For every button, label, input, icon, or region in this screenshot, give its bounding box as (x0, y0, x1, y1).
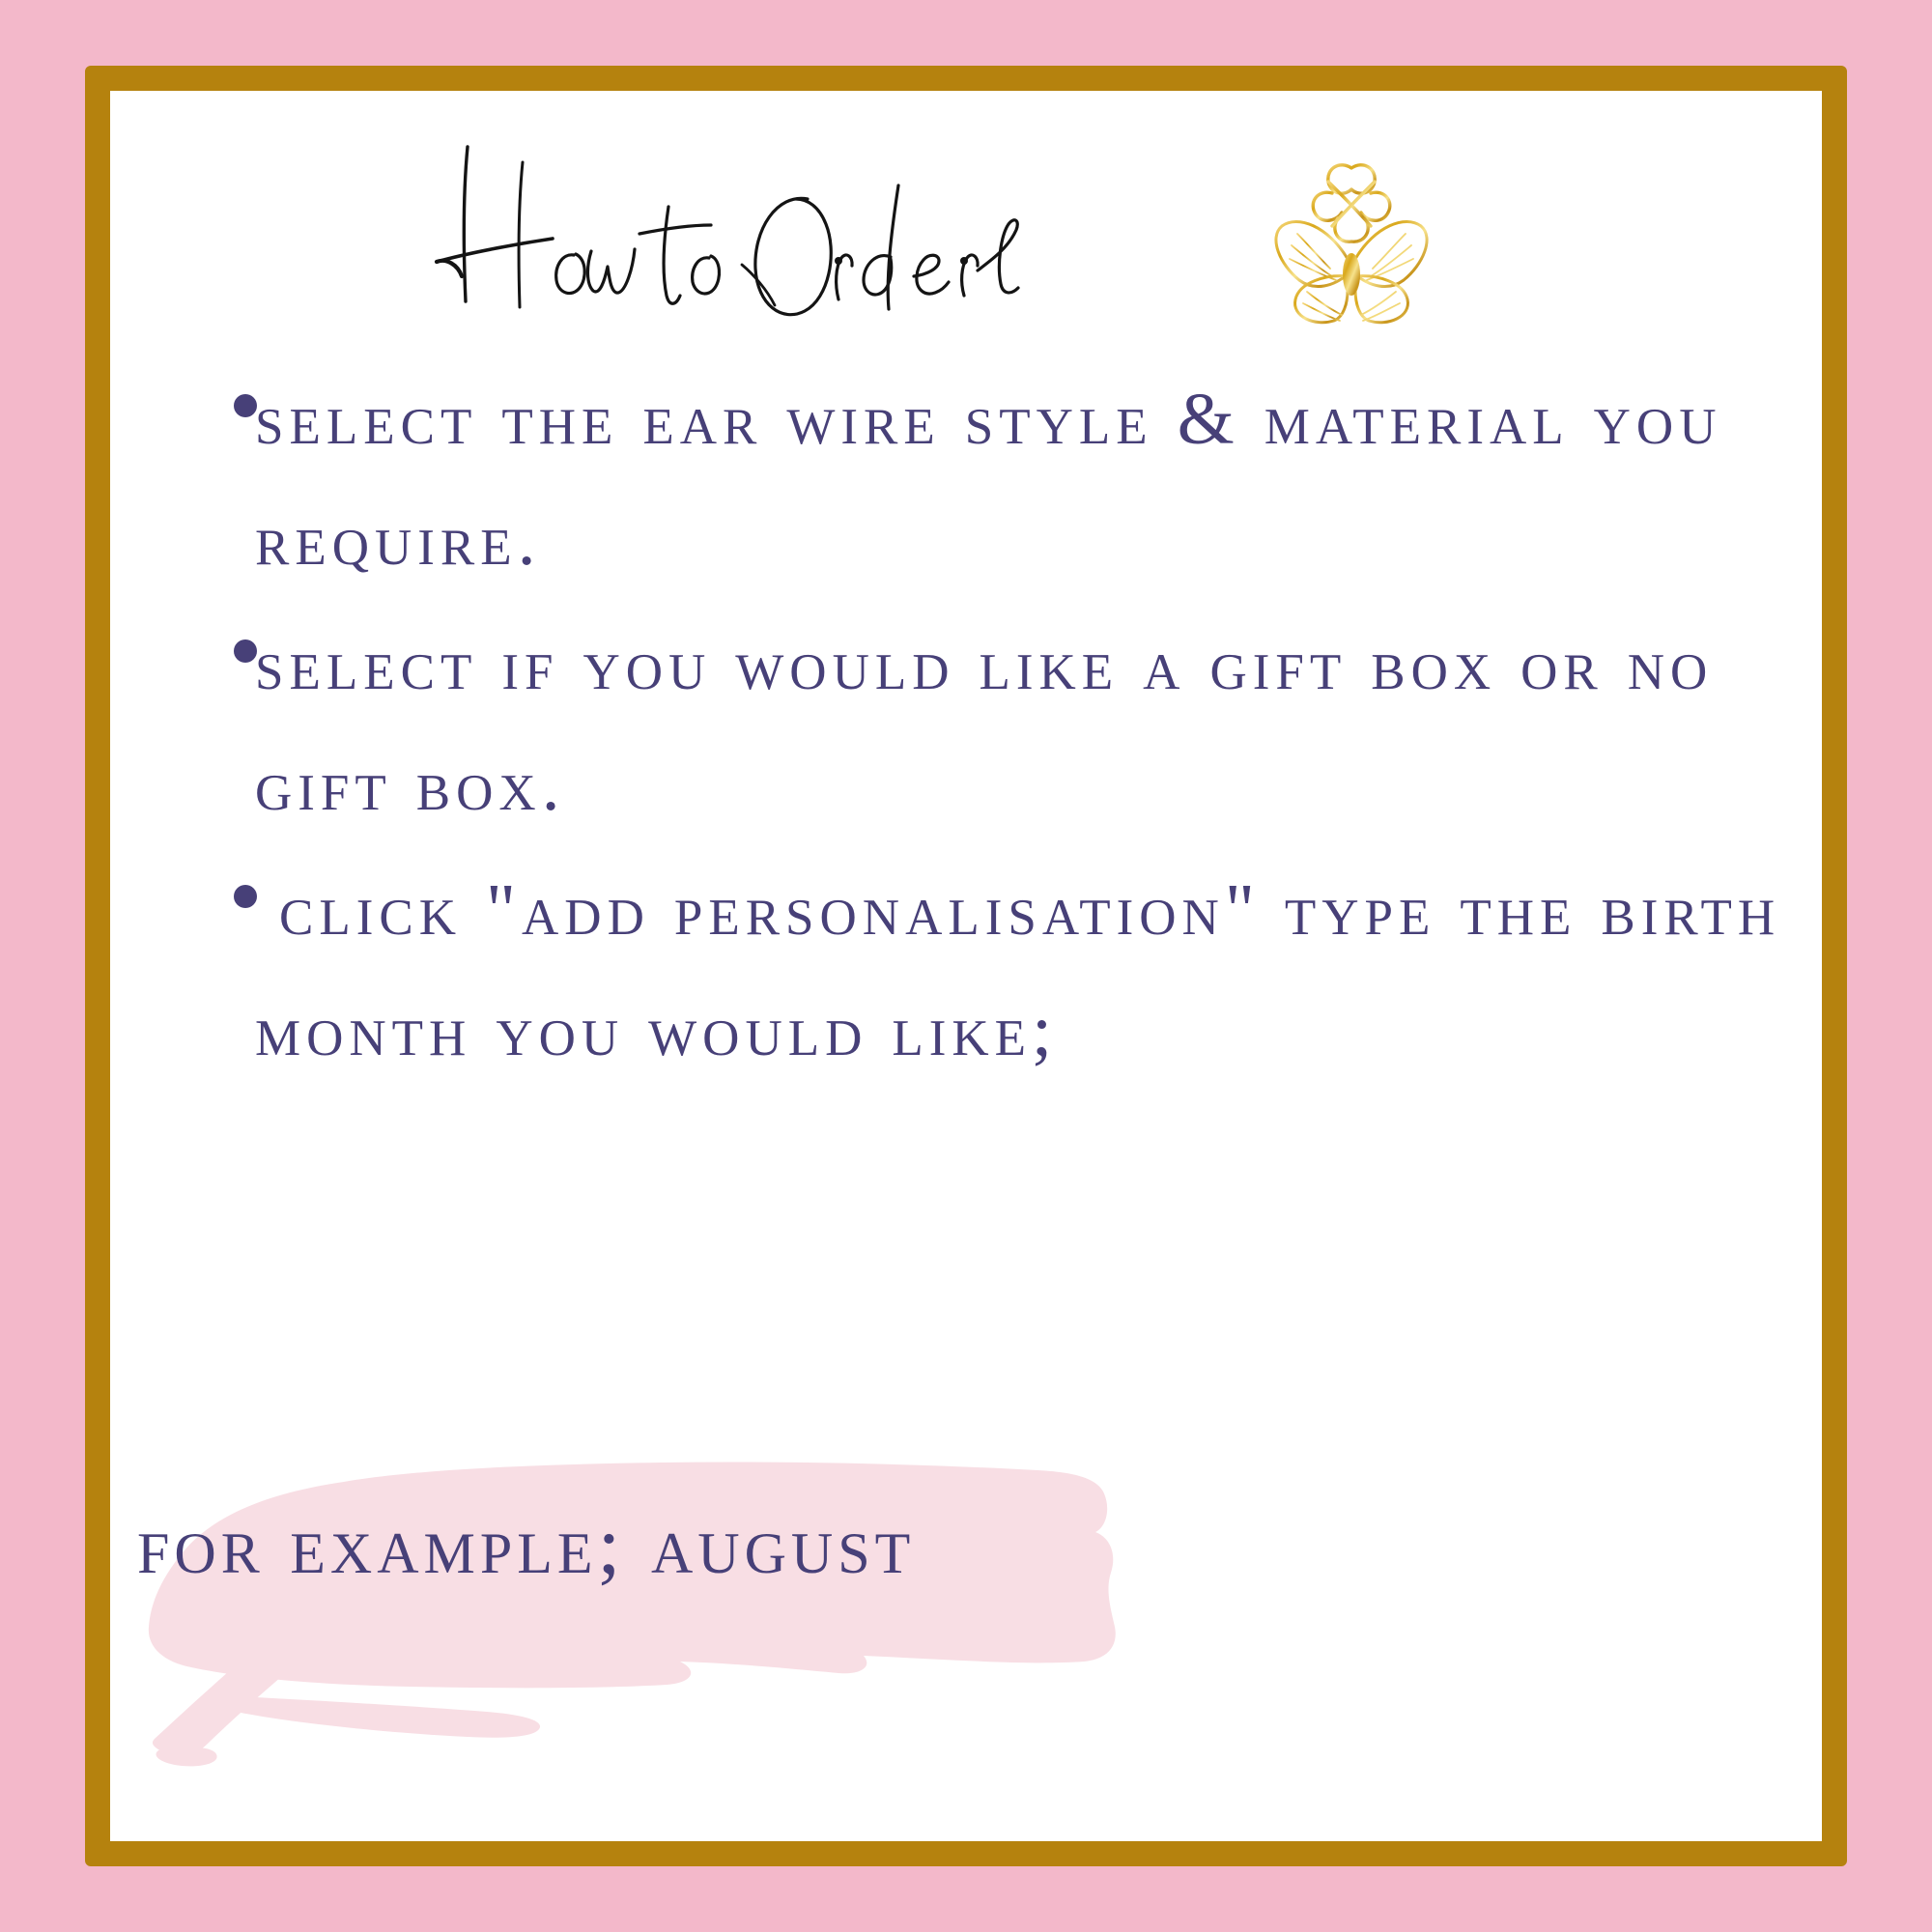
butterfly-key-icon (1255, 151, 1448, 363)
step-text: Select if you would like a gift box or n… (255, 605, 1804, 846)
header (110, 91, 1822, 332)
bullet-icon (234, 394, 257, 417)
bullet-icon (234, 885, 257, 908)
bullet-icon (234, 639, 257, 663)
step-text: Click "add personalisation" type the bir… (255, 850, 1804, 1092)
list-item: Click "add personalisation" type the bir… (110, 850, 1822, 1092)
page-title (429, 129, 1124, 323)
example-block: For example; August (110, 1410, 1822, 1797)
list-item: Select if you would like a gift box or n… (110, 605, 1822, 846)
gold-frame-border: Select the ear wire style & material you… (85, 66, 1847, 1866)
poster-canvas: Select the ear wire style & material you… (0, 0, 1932, 1932)
list-item: Select the ear wire style & material you… (110, 359, 1822, 601)
card-inner: Select the ear wire style & material you… (110, 91, 1822, 1841)
order-steps-list: Select the ear wire style & material you… (110, 359, 1822, 1095)
step-text: Select the ear wire style & material you… (255, 359, 1804, 601)
example-text: For example; August (137, 1488, 1393, 1602)
